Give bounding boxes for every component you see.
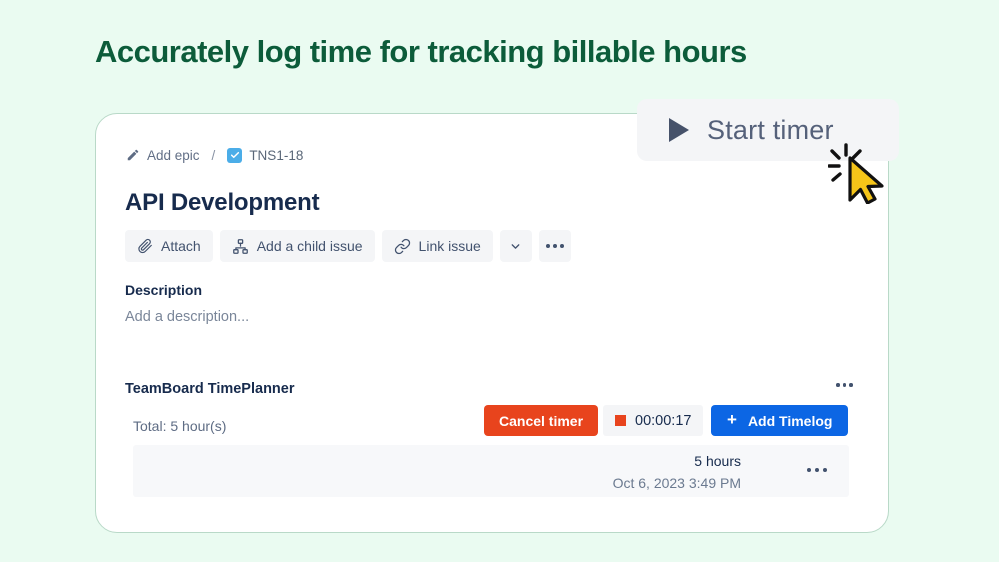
child-issue-tree-icon (232, 238, 249, 255)
stop-square-icon (615, 415, 626, 426)
attach-button-label: Attach (161, 238, 201, 254)
add-timelog-label: Add Timelog (748, 413, 833, 429)
timelog-date: Oct 6, 2023 3:49 PM (613, 475, 741, 491)
attach-button[interactable]: Attach (125, 230, 213, 262)
add-child-issue-button[interactable]: Add a child issue (220, 230, 375, 262)
paperclip-icon (137, 238, 153, 254)
link-issue-label: Link issue (419, 238, 481, 254)
add-timelog-button[interactable]: + Add Timelog (711, 405, 848, 436)
timeplanner-total: Total: 5 hour(s) (133, 418, 226, 434)
timeplanner-title: TeamBoard TimePlanner (125, 381, 295, 397)
breadcrumb-separator: / (212, 148, 216, 163)
start-timer-callout[interactable]: Start timer (637, 99, 899, 161)
pencil-icon (126, 148, 140, 162)
cancel-timer-button[interactable]: Cancel timer (484, 405, 598, 436)
breadcrumb-add-epic-label: Add epic (147, 148, 200, 163)
add-child-issue-label: Add a child issue (257, 238, 363, 254)
timeplanner-more-icon[interactable] (836, 383, 853, 387)
timer-value: 00:00:17 (635, 413, 691, 429)
breadcrumb-issue-key[interactable]: TNS1-18 (227, 148, 303, 163)
toolbar-more-dropdown[interactable] (500, 230, 532, 262)
timelog-hours: 5 hours (694, 453, 741, 469)
task-checkbox-icon (227, 148, 242, 163)
breadcrumb-add-epic[interactable]: Add epic (126, 148, 200, 163)
chevron-down-icon (509, 240, 522, 253)
description-label: Description (125, 282, 202, 298)
more-horizontal-icon (546, 244, 564, 248)
page-headline: Accurately log time for tracking billabl… (95, 34, 747, 70)
toolbar-more-actions-button[interactable] (539, 230, 571, 262)
timelog-row[interactable]: 5 hours Oct 6, 2023 3:49 PM (133, 445, 849, 497)
link-issue-button[interactable]: Link issue (382, 230, 493, 262)
start-timer-label: Start timer (707, 115, 834, 146)
breadcrumb-issue-key-label: TNS1-18 (249, 148, 303, 163)
link-chain-icon (394, 238, 411, 255)
breadcrumb: Add epic / TNS1-18 (126, 145, 303, 165)
plus-icon: + (727, 411, 737, 428)
cancel-timer-label: Cancel timer (499, 413, 583, 429)
issue-title: API Development (125, 189, 319, 217)
description-placeholder[interactable]: Add a description... (125, 309, 249, 325)
issue-action-toolbar: Attach Add a child issue Link issue (125, 230, 571, 262)
timer-display-chip[interactable]: 00:00:17 (603, 405, 703, 436)
timelog-more-icon[interactable] (807, 468, 827, 472)
play-triangle-icon (669, 118, 689, 142)
